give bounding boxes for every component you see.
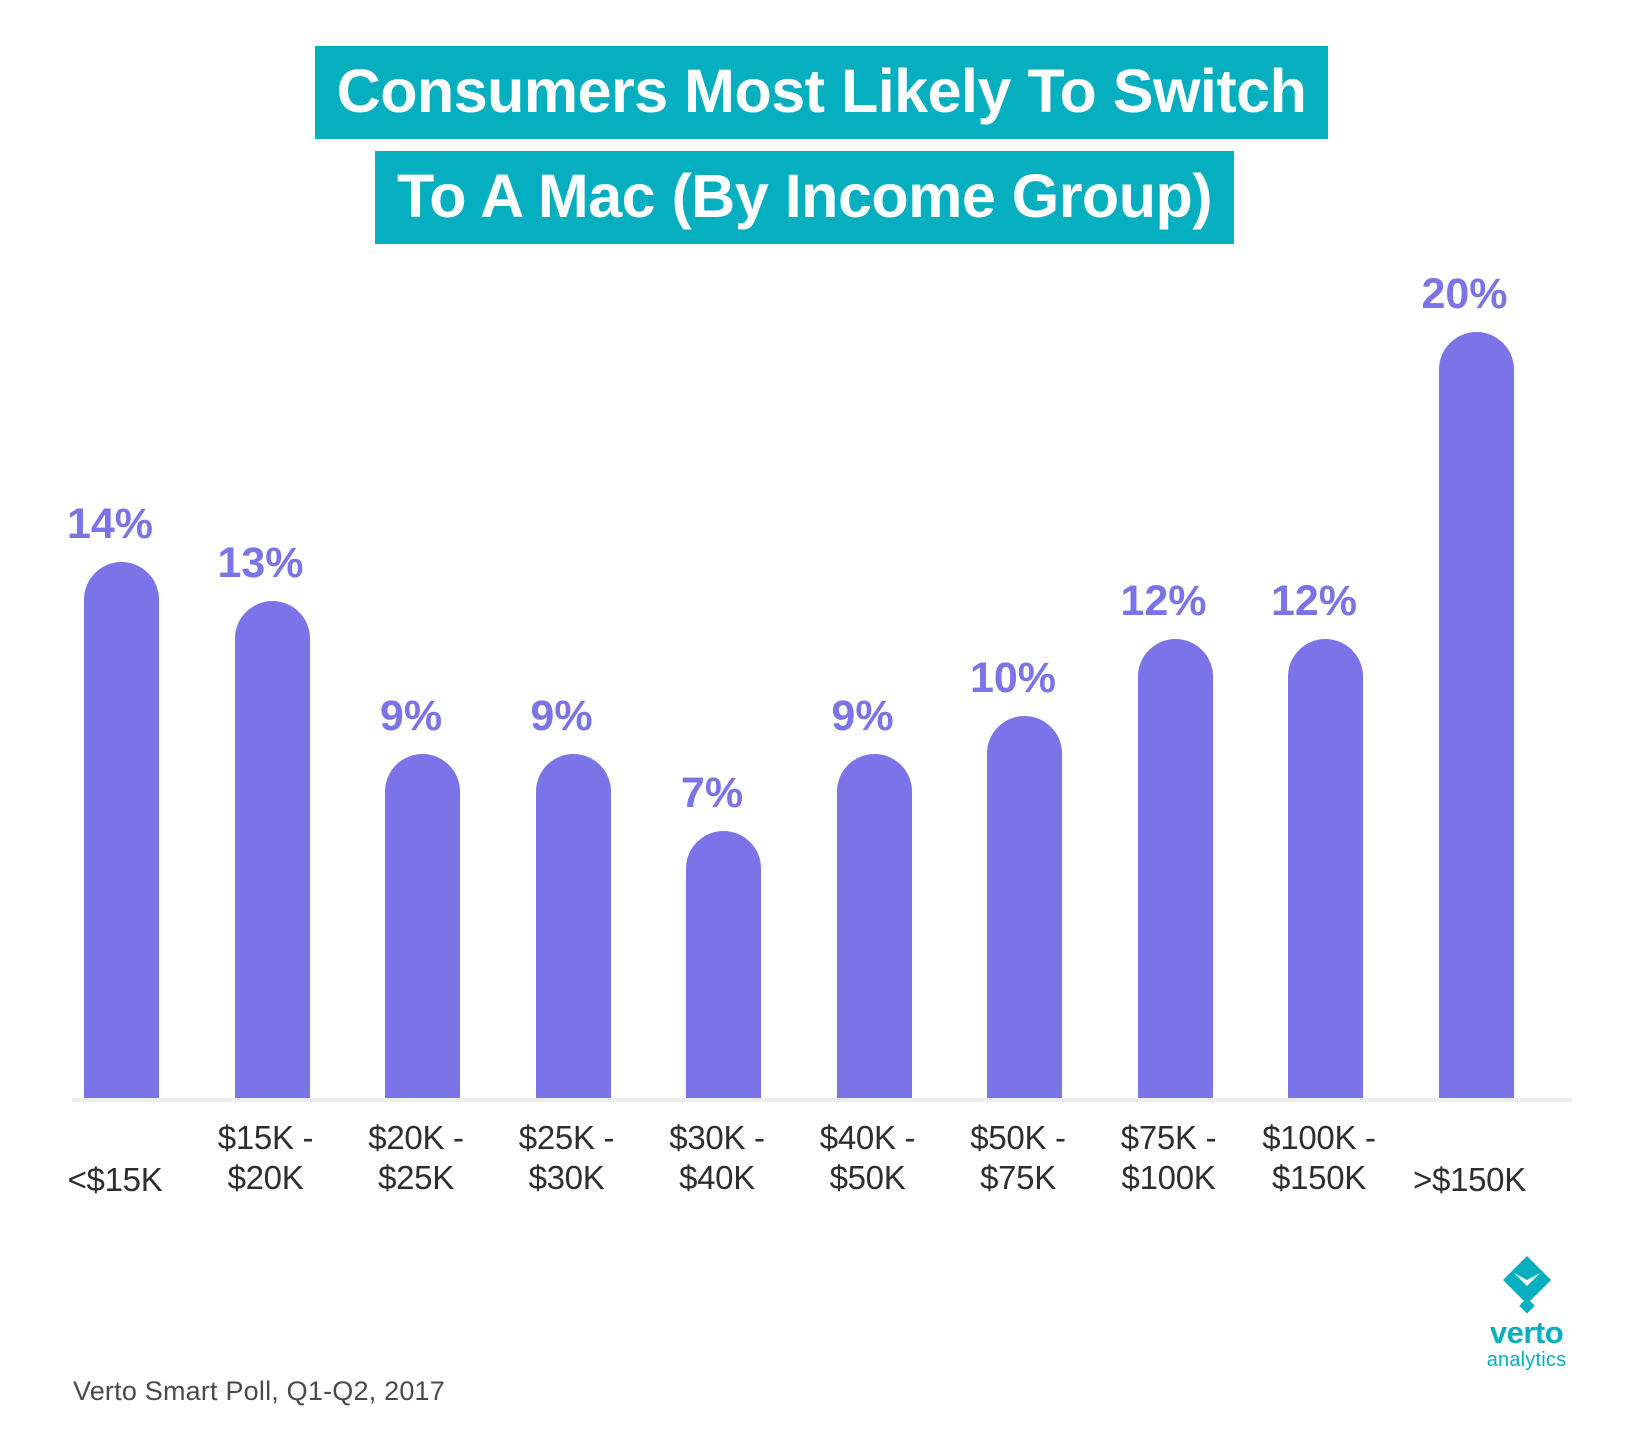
x-axis-label-line: $25K -: [492, 1118, 642, 1158]
bar[interactable]: [84, 562, 159, 1100]
verto-diamond-icon: [1496, 1253, 1558, 1315]
bar[interactable]: [1288, 639, 1363, 1100]
bar[interactable]: [987, 716, 1062, 1100]
x-axis-label: $20K -$25K: [341, 1118, 491, 1198]
verto-analytics-logo: verto analytics: [1464, 1253, 1589, 1371]
bar-value-label: 9%: [502, 695, 622, 738]
x-axis-label-line: $20K: [191, 1158, 341, 1198]
x-axis-label-line: $100K: [1094, 1158, 1244, 1198]
x-axis-label-line: $30K -: [642, 1118, 792, 1158]
x-axis-label-line: >$150K: [1395, 1160, 1545, 1200]
x-axis-label-line: $20K -: [341, 1118, 491, 1158]
x-axis-label-line: $25K: [341, 1158, 491, 1198]
bar-value-label: 9%: [351, 695, 471, 738]
bar[interactable]: [536, 754, 611, 1100]
x-axis-label-line: $150K: [1244, 1158, 1394, 1198]
bar[interactable]: [837, 754, 912, 1100]
x-axis-label: $15K -$20K: [191, 1118, 341, 1198]
bar-value-label: 10%: [953, 657, 1073, 700]
x-axis-label-line: $75K -: [1094, 1118, 1244, 1158]
bar[interactable]: [385, 754, 460, 1100]
bar-chart-plot-area: 14%13%9%9%7%9%10%12%12%20%: [72, 255, 1577, 1100]
page-title-line-2: To A Mac (By Income Group): [375, 151, 1234, 244]
x-axis-label: $100K -$150K: [1244, 1118, 1394, 1198]
x-axis-label-line: $15K -: [191, 1118, 341, 1158]
x-axis-label-line: $40K -: [793, 1118, 943, 1158]
page-title-line-1: Consumers Most Likely To Switch: [315, 46, 1329, 139]
bar-value-label: 12%: [1254, 580, 1374, 623]
x-axis-label: $50K -$75K: [943, 1118, 1093, 1198]
bar-value-label: 20%: [1405, 273, 1525, 316]
x-axis-label-row: <$15K$15K -$20K$20K -$25K$25K -$30K$30K …: [72, 1118, 1577, 1228]
bar-value-label: 9%: [803, 695, 923, 738]
bar-value-label: 12%: [1104, 580, 1224, 623]
x-axis-label-line: <$15K: [40, 1160, 190, 1200]
bar-value-label: 14%: [50, 503, 170, 546]
x-axis-label: $30K -$40K: [642, 1118, 792, 1198]
x-axis-label: $75K -$100K: [1094, 1118, 1244, 1198]
x-axis-label: $25K -$30K: [492, 1118, 642, 1198]
x-axis-label-line: $75K: [943, 1158, 1093, 1198]
infographic-canvas: Consumers Most Likely To Switch To A Mac…: [0, 0, 1651, 1455]
bar[interactable]: [686, 831, 761, 1100]
source-note: Verto Smart Poll, Q1-Q2, 2017: [73, 1376, 445, 1407]
x-axis-label: <$15K: [40, 1118, 190, 1200]
x-axis-label-line: $30K: [492, 1158, 642, 1198]
bar[interactable]: [235, 601, 310, 1100]
x-axis-label: $40K -$50K: [793, 1118, 943, 1198]
x-axis-label-line: $50K -: [943, 1118, 1093, 1158]
page-title: Consumers Most Likely To Switch To A Mac…: [0, 46, 1651, 244]
bar-value-label: 13%: [201, 542, 321, 585]
bar-value-label: 7%: [652, 772, 772, 815]
x-axis-label: >$150K: [1395, 1118, 1545, 1200]
bar[interactable]: [1439, 332, 1514, 1100]
logo-subtitle: analytics: [1464, 1349, 1589, 1371]
bar[interactable]: [1138, 639, 1213, 1100]
x-axis-label-line: $50K: [793, 1158, 943, 1198]
x-axis-baseline: [72, 1098, 1572, 1102]
x-axis-label-line: $40K: [642, 1158, 792, 1198]
logo-wordmark: verto: [1464, 1317, 1589, 1349]
x-axis-label-line: $100K -: [1244, 1118, 1394, 1158]
